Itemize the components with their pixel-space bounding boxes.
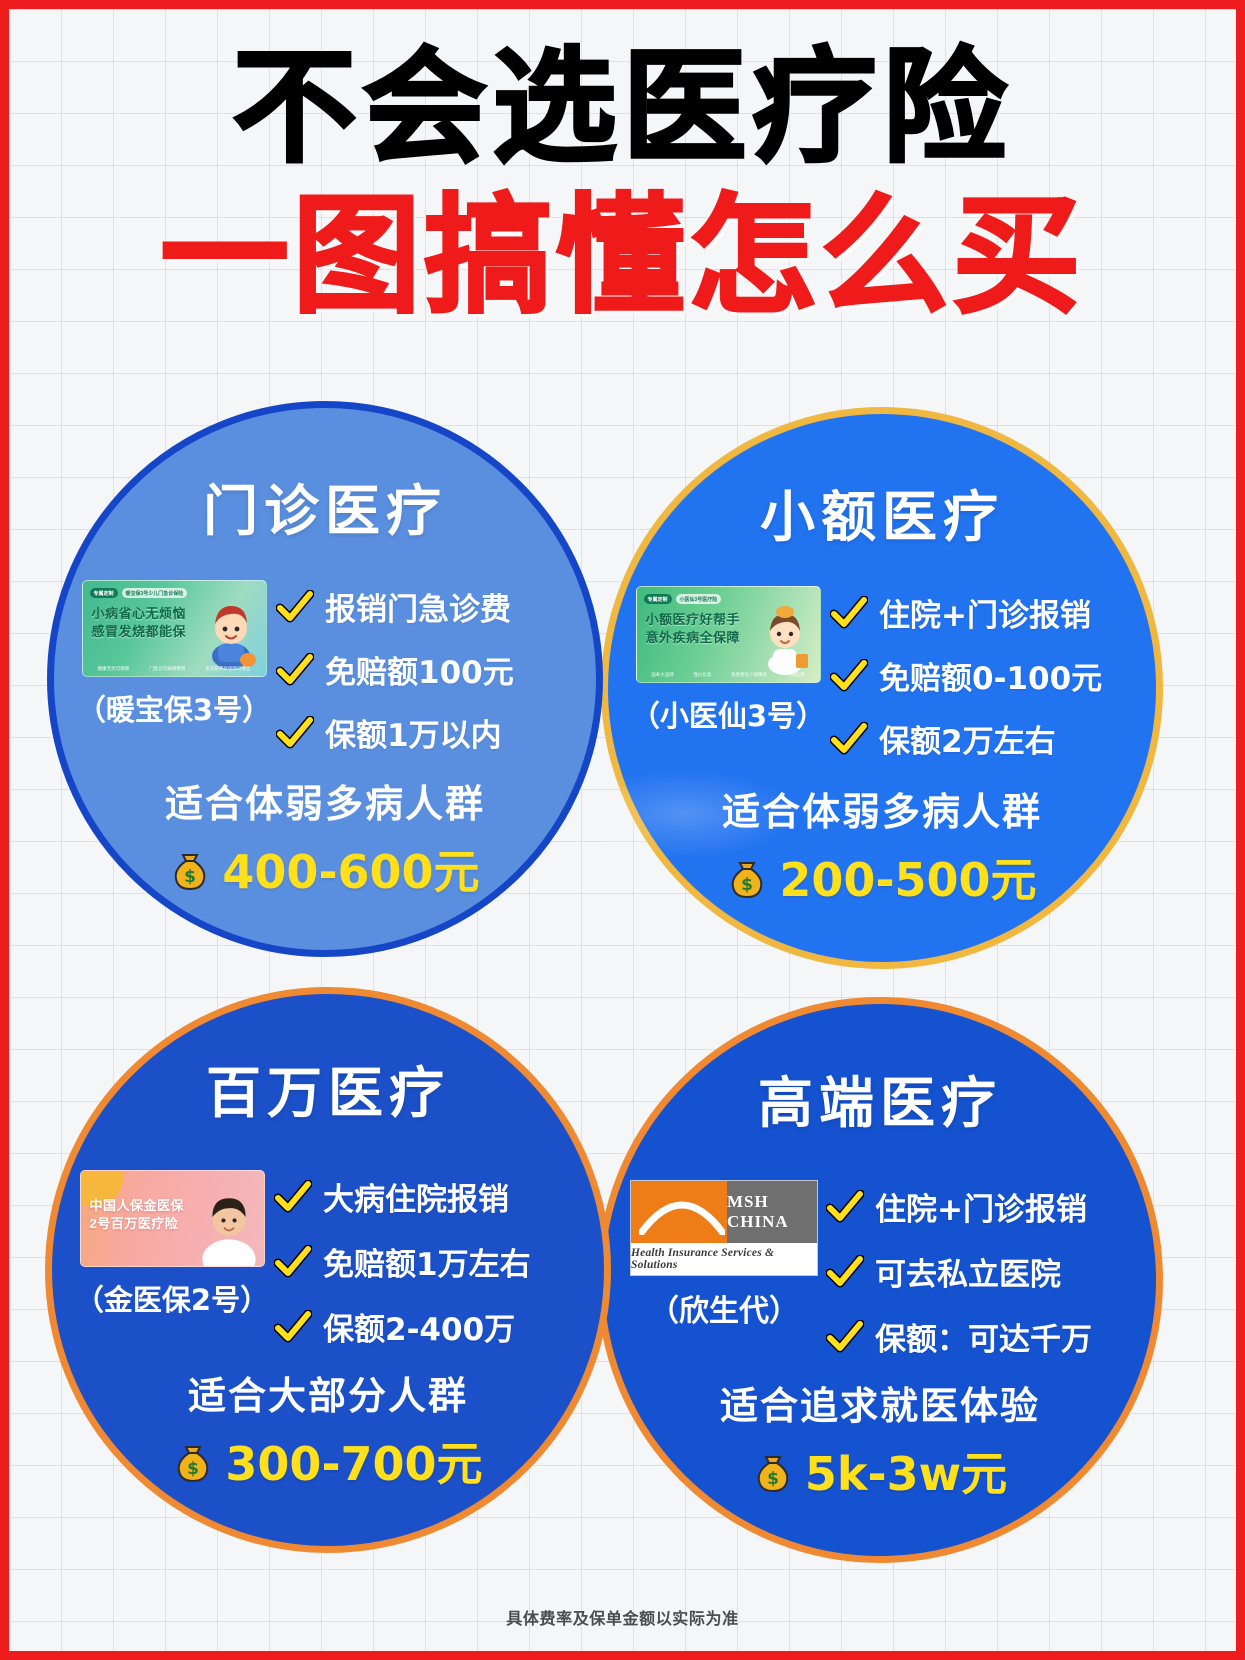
- arc-icon: [639, 1183, 725, 1235]
- feature-label: 保额1万以内: [325, 710, 502, 755]
- thumbnail-slogan-line-1: 中国人保金医保: [90, 1197, 185, 1215]
- money-bag-icon: $: [753, 1449, 793, 1493]
- feature-item: 免赔额1万左右: [274, 1239, 590, 1284]
- money-bag-icon: $: [727, 855, 767, 899]
- product-name-outpatient: （暖宝保3号）: [77, 687, 271, 729]
- card-small-amount-medical[interactable]: 小额医疗 专属定制 小医仙3号医疗险 小额医疗好帮手 意外疾病全保障: [601, 407, 1163, 969]
- feature-item: 免赔额100元: [276, 647, 582, 692]
- thumbnail-slogan: 中国人保金医保 2号百万医疗险: [90, 1197, 185, 1234]
- card-footer-premium: 适合追求就医体验 $ 5k-3w元: [604, 1375, 1156, 1504]
- product-thumbnail-xiaoyixian3: 专属定制 小医仙3号医疗险 小额医疗好帮手 意外疾病全保障: [636, 586, 821, 683]
- check-icon: [276, 590, 314, 624]
- card-title-outpatient: 门诊医疗: [203, 466, 447, 546]
- check-icon: [830, 596, 868, 630]
- feature-item: 保额：可达千万: [826, 1314, 1142, 1359]
- card-premium-medical[interactable]: 高端医疗 MSH CHINA Health Insurance Se: [597, 997, 1163, 1563]
- money-bag-icon: $: [170, 847, 210, 891]
- check-icon: [826, 1255, 864, 1289]
- thumbnail-slogan-line-2: 2号百万医疗险: [90, 1215, 185, 1233]
- price-label: 200-500元: [779, 844, 1036, 910]
- feature-list-premium: 住院+门诊报销 可去私立医院 保额：可达千万: [826, 1180, 1142, 1359]
- feature-label: 免赔额100元: [325, 647, 514, 692]
- check-icon: [830, 722, 868, 756]
- feature-label: 住院+门诊报销: [879, 590, 1091, 635]
- check-icon: [274, 1245, 312, 1279]
- thumbnail-slogan-line-1: 小额医疗好帮手: [646, 611, 741, 629]
- check-icon: [274, 1310, 312, 1344]
- feature-list-small: 住院+门诊报销 免赔额0-100元 保额2万左右: [830, 586, 1142, 761]
- thumbnail-footnotes: 国寿大品牌 性价比高 免责责任少保障高 不限社保: [637, 672, 820, 678]
- check-icon: [276, 653, 314, 687]
- feature-list-million: 大病住院报销 免赔额1万左右 保额2-400万: [274, 1170, 590, 1349]
- feature-label: 住院+门诊报销: [875, 1184, 1087, 1229]
- product-name-small: （小医仙3号）: [631, 693, 825, 735]
- svg-text:$: $: [767, 1469, 779, 1489]
- audience-label: 适合追求就医体验: [604, 1375, 1156, 1430]
- svg-text:$: $: [185, 867, 197, 887]
- logo-orange-block: [631, 1181, 727, 1243]
- card-body-outpatient: 专属定制 暖宝保3号少儿门急诊保险 小病省心无烦恼 感冒发烧都能保: [54, 580, 596, 755]
- feature-label: 大病住院报销: [323, 1174, 509, 1219]
- product-name-million: （金医保2号）: [75, 1277, 269, 1319]
- price-row: $ 400-600元: [54, 836, 596, 902]
- check-icon: [276, 716, 314, 750]
- feature-item: 住院+门诊报销: [826, 1184, 1142, 1229]
- thumbnail-tag-row: 专属定制 小医仙3号医疗险: [644, 594, 722, 604]
- thumbnail-slogan: 小额医疗好帮手 意外疾病全保障: [646, 611, 741, 648]
- svg-text:$: $: [188, 1459, 200, 1479]
- price-row: $ 200-500元: [608, 844, 1156, 910]
- thumbnail-subtag: 小医仙3号医疗险: [676, 594, 722, 604]
- product-thumbnail-jinyibao2: 中国人保金医保 2号百万医疗险: [80, 1170, 265, 1267]
- feature-label: 保额2-400万: [323, 1304, 515, 1349]
- feature-item: 住院+门诊报销: [830, 590, 1142, 635]
- card-body-small: 专属定制 小医仙3号医疗险 小额医疗好帮手 意外疾病全保障: [608, 586, 1156, 761]
- poster-canvas: 不会选医疗险 一图搞懂怎么买 门诊医疗 专属定制 暖宝保3号少儿门急诊保险 小病…: [0, 0, 1245, 1660]
- thumbnail-slogan: 小病省心无烦恼 感冒发烧都能保: [92, 605, 187, 642]
- check-icon: [274, 1180, 312, 1214]
- logo-top-row: MSH CHINA: [631, 1181, 817, 1243]
- price-row: $ 5k-3w元: [604, 1438, 1156, 1504]
- product-thumbnail-nuanbaobao3: 专属定制 暖宝保3号少儿门急诊保险 小病省心无烦恼 感冒发烧都能保: [82, 580, 267, 677]
- logo-brand-text: MSH CHINA: [727, 1192, 817, 1232]
- man-photo-illustration-icon: [194, 1186, 264, 1266]
- thumbnail-footnote: 不限社保: [787, 672, 805, 678]
- card-body-million: 中国人保金医保 2号百万医疗险 （金医保2号）: [52, 1170, 604, 1349]
- thumbnail-slogan-line-2: 意外疾病全保障: [646, 629, 741, 647]
- msh-china-logo: MSH CHINA Health Insurance Services & So…: [630, 1180, 818, 1276]
- thumbnail-footnote: 门急诊可报销费用: [149, 666, 185, 672]
- thumbnail-footnote: 国寿大品牌: [651, 672, 674, 678]
- thumbnail-tag: 专属定制: [644, 594, 672, 604]
- card-million-medical[interactable]: 百万医疗 中国人保金医保 2号百万医疗险: [45, 987, 611, 1553]
- thumbnail-slogan-line-2: 感冒发烧都能保: [92, 623, 187, 641]
- thumbnail-footnote: 性价比高: [693, 672, 711, 678]
- check-icon: [826, 1190, 864, 1224]
- product-column-million: 中国人保金医保 2号百万医疗险 （金医保2号）: [66, 1170, 278, 1319]
- check-icon: [830, 659, 868, 693]
- card-title-small: 小额医疗: [760, 472, 1004, 552]
- thumbnail-footnote: 免责责任少保障高: [731, 672, 767, 678]
- product-column-premium: MSH CHINA Health Insurance Services & So…: [618, 1180, 830, 1330]
- feature-label: 可去私立医院: [875, 1249, 1061, 1294]
- feature-label: 报销门急诊费: [325, 584, 511, 629]
- thumbnail-footnote: 多次赔率高保障可保全: [205, 666, 250, 672]
- thumbnail-footnotes: 健康无忧可保障 门急诊可报销费用 多次赔率高保障可保全: [83, 666, 266, 672]
- price-label: 400-600元: [222, 836, 479, 902]
- thumbnail-tag: 专属定制: [90, 588, 118, 598]
- feature-item: 保额2-400万: [274, 1304, 590, 1349]
- price-label: 300-700元: [225, 1428, 482, 1494]
- price-label: 5k-3w元: [805, 1438, 1007, 1504]
- card-body-premium: MSH CHINA Health Insurance Services & So…: [604, 1180, 1156, 1359]
- feature-item: 报销门急诊费: [276, 584, 582, 629]
- feature-item: 免赔额0-100元: [830, 653, 1142, 698]
- feature-item: 可去私立医院: [826, 1249, 1142, 1294]
- feature-label: 保额2万左右: [879, 716, 1056, 761]
- price-row: $ 300-700元: [52, 1428, 604, 1494]
- audience-label: 适合体弱多病人群: [54, 773, 596, 828]
- logo-tagline: Health Insurance Services & Solutions: [631, 1243, 817, 1275]
- headline-line-1: 不会选医疗险: [9, 43, 1236, 174]
- footer-disclaimer: 具体费率及保单金额以实际为准: [9, 1605, 1236, 1629]
- logo-grey-block: MSH CHINA: [727, 1181, 817, 1243]
- money-bag-icon: $: [173, 1439, 213, 1483]
- card-title-premium: 高端医疗: [758, 1058, 1002, 1138]
- feature-label: 免赔额1万左右: [323, 1239, 531, 1284]
- child-illustration-icon: [200, 598, 262, 670]
- card-footer-outpatient: 适合体弱多病人群 $ 400-600元: [54, 773, 596, 902]
- product-column-outpatient: 专属定制 暖宝保3号少儿门急诊保险 小病省心无烦恼 感冒发烧都能保: [68, 580, 280, 729]
- check-icon: [826, 1320, 864, 1354]
- thumbnail-slogan-line-1: 小病省心无烦恼: [92, 605, 187, 623]
- card-footer-million: 适合大部分人群 $ 300-700元: [52, 1365, 604, 1494]
- svg-text:$: $: [742, 875, 754, 895]
- feature-item: 保额2万左右: [830, 716, 1142, 761]
- product-name-premium: （欣生代）: [649, 1286, 799, 1330]
- card-title-million: 百万医疗: [206, 1048, 450, 1128]
- feature-item: 大病住院报销: [274, 1174, 590, 1219]
- product-column-small: 专属定制 小医仙3号医疗险 小额医疗好帮手 意外疾病全保障: [622, 586, 834, 735]
- card-outpatient-medical[interactable]: 门诊医疗 专属定制 暖宝保3号少儿门急诊保险 小病省心无烦恼 感冒发烧都能保: [47, 401, 603, 957]
- feature-label: 免赔额0-100元: [879, 653, 1102, 698]
- thumbnail-tag-row: 专属定制 暖宝保3号少儿门急诊保险: [90, 588, 188, 598]
- girl-illustration-icon: [754, 604, 816, 676]
- feature-list-outpatient: 报销门急诊费 免赔额100元 保额1万以内: [276, 580, 582, 755]
- feature-item: 保额1万以内: [276, 710, 582, 755]
- audience-label: 适合大部分人群: [52, 1365, 604, 1420]
- thumbnail-footnote: 健康无忧可保障: [98, 666, 130, 672]
- headline-line-2: 一图搞懂怎么买: [9, 192, 1236, 323]
- thumbnail-subtag: 暖宝保3号少儿门急诊保险: [122, 588, 188, 598]
- feature-label: 保额：可达千万: [875, 1314, 1092, 1359]
- audience-label: 适合体弱多病人群: [608, 781, 1156, 836]
- poster-headline: 不会选医疗险 一图搞懂怎么买: [9, 43, 1236, 323]
- card-footer-small: 适合体弱多病人群 $ 200-500元: [608, 781, 1156, 910]
